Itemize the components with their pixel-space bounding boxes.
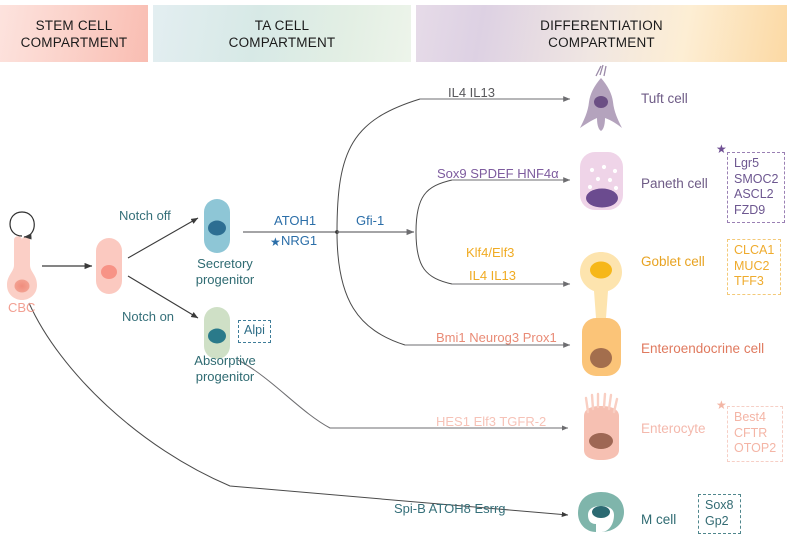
marker-goblet-1: MUC2 [734,259,774,275]
enterocyte-cell-graphic [584,394,619,460]
pathway-gene-gfi1: Gfi-1 [356,213,384,228]
marker-goblet-0: CLCA1 [734,243,774,259]
marker-box-mcell: Sox8 Gp2 [698,494,741,534]
marker-alpi: Alpi [244,323,265,339]
bracket-inner-down [416,232,452,284]
pathway-genes-paneth: Sox9 SPDEF HNF4α [437,166,559,181]
cell-label-tuft: Tuft cell [641,91,688,106]
bracket-outer-down [337,232,405,345]
tuft-cell-graphic [580,65,622,131]
pathway-genes-enterocyte: HES1 Elf3 TGFR-2 [436,414,546,429]
cell-label-goblet: Goblet cell [641,254,705,269]
marker-enterocyte-2: OTOP2 [734,441,776,457]
pathway-genes-goblet-top: Klf4/Elf3 [466,245,514,260]
ta-cell-graphic [96,238,122,294]
diagram-canvas: STEM CELL COMPARTMENT TA CELL COMPARTMEN… [0,0,787,533]
marker-box-alpi: Alpi [238,320,271,343]
marker-mcell-1: Gp2 [705,514,734,530]
pathway-gene-nrg1: NRG1 [281,233,317,248]
notch-off-label: Notch off [119,208,171,223]
cbc-cell-graphic [7,212,37,300]
pathway-genes-goblet-bottom: IL4 IL13 [469,268,516,283]
marker-mcell-0: Sox8 [705,498,734,514]
pathway-gene-atoh1: ATOH1 [274,213,316,228]
secretory-progenitor-line2: progenitor [188,272,262,288]
absorptive-progenitor-graphic [204,307,230,359]
arrow-ta-to-secretory [128,218,198,258]
absorptive-progenitor-line2: progenitor [186,369,264,385]
marker-paneth-2: ASCL2 [734,187,778,203]
pathway-genes-tuft: IL4 IL13 [448,85,495,100]
notch-on-label: Notch on [122,309,174,324]
enteroendocrine-cell-graphic [582,318,621,376]
marker-box-goblet: CLCA1 MUC2 TFF3 [727,239,781,295]
goblet-cell-graphic [580,252,622,321]
marker-box-enterocyte: Best4 CFTR OTOP2 [727,406,783,462]
secretory-progenitor-line1: Secretory [188,256,262,272]
marker-paneth-1: SMOC2 [734,172,778,188]
marker-enterocyte-1: CFTR [734,426,776,442]
pathway-genes-enteroendocrine: Bmi1 Neurog3 Prox1 [436,330,557,345]
cell-label-paneth: Paneth cell [641,176,708,191]
cell-label-mcell: M cell [641,512,676,527]
marker-goblet-2: TFF3 [734,274,774,290]
bracket-inner-up [416,180,452,232]
star-icon-nrg1: ★ [270,236,281,248]
marker-enterocyte-0: Best4 [734,410,776,426]
marker-box-paneth: Lgr5 SMOC2 ASCL2 FZD9 [727,152,785,223]
star-icon-enterocyte-markers: ★ [716,399,727,411]
mcell-cell-graphic [578,492,624,532]
secretory-progenitor-label: Secretory progenitor [188,256,262,288]
absorptive-progenitor-label: Absorptive progenitor [186,353,264,385]
cbc-label: CBC [8,300,35,315]
paneth-cell-graphic [580,152,623,210]
absorptive-progenitor-line1: Absorptive [186,353,264,369]
pathway-genes-mcell: Spi-B ATOH8 Esrrg [394,501,506,516]
secretory-progenitor-graphic [204,199,230,253]
cell-label-enteroendocrine: Enteroendocrine cell [641,341,764,356]
marker-paneth-0: Lgr5 [734,156,778,172]
star-icon-paneth-markers: ★ [716,143,727,155]
marker-paneth-3: FZD9 [734,203,778,219]
cell-label-enterocyte: Enterocyte [641,421,706,436]
